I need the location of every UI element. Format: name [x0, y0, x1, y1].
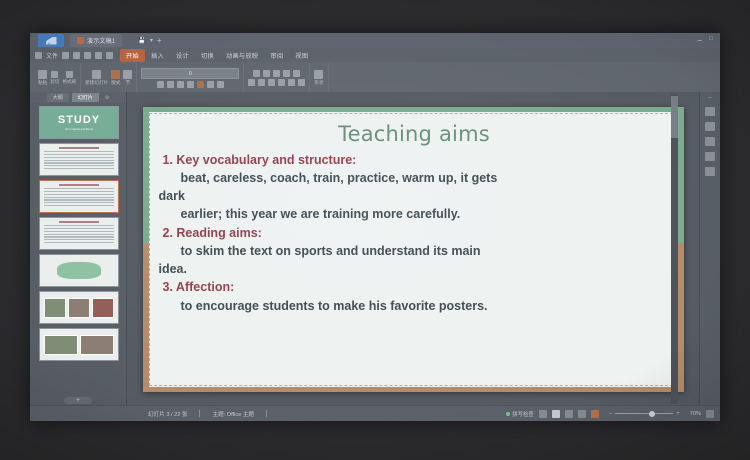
- align-right-icon[interactable]: [268, 79, 275, 86]
- restore-icon[interactable]: □: [709, 36, 713, 43]
- picture-tools-icon[interactable]: [705, 137, 715, 146]
- slide-heading-2[interactable]: 2. Reading aims:: [163, 225, 670, 242]
- strikethrough-icon[interactable]: [187, 81, 194, 88]
- add-slide-button[interactable]: +: [64, 397, 92, 404]
- presentation-file-icon: [77, 37, 84, 44]
- collapse-icon[interactable]: ─: [708, 95, 712, 101]
- redo-icon[interactable]: [106, 52, 113, 59]
- ribbon-tab-review[interactable]: 审阅: [264, 49, 289, 62]
- decrease-indent-icon[interactable]: [273, 70, 280, 77]
- new-slide-icon: [92, 70, 101, 79]
- status-right-group: 拼写检查 − + 70%: [506, 410, 714, 418]
- scrollbar-thumb[interactable]: [671, 96, 678, 138]
- slideshow-icon[interactable]: [591, 410, 599, 418]
- fit-to-window-icon[interactable]: [706, 410, 714, 418]
- reading-view-icon[interactable]: [565, 410, 573, 418]
- notes-icon[interactable]: [578, 410, 586, 418]
- document-tab-label: 演示文稿1: [87, 36, 115, 45]
- photo-thumb: [80, 335, 114, 355]
- slide-thumbnail-pane: 大纲 幻灯片 ⚙ 1 STUDY Unit 1 Sports and fitne…: [30, 92, 127, 406]
- font-color-icon[interactable]: [197, 81, 204, 88]
- section-button[interactable]: 节: [123, 70, 132, 86]
- current-slide[interactable]: Teaching aims 1. Key vocabulary and stru…: [143, 107, 684, 392]
- photo-thumb: [68, 298, 90, 318]
- ribbon-group-paragraph: [244, 63, 310, 93]
- list-item[interactable]: 6: [39, 291, 119, 324]
- wps-logo-icon[interactable]: [38, 34, 64, 47]
- status-dot-icon: [506, 412, 510, 416]
- shapes-button[interactable]: 形状: [314, 70, 323, 86]
- speech-bubble-shape: [57, 262, 101, 278]
- slide-body-2[interactable]: dark: [159, 188, 670, 205]
- ribbon-group-drawing: 形状: [310, 63, 328, 93]
- ribbon-tab-home[interactable]: 开始: [120, 49, 145, 62]
- slide-heading-1[interactable]: 1. Key vocabulary and structure:: [163, 152, 670, 169]
- ribbon-group-clipboard: 粘贴 剪切 格式刷: [34, 63, 81, 93]
- quick-access-label[interactable]: 文件: [46, 51, 58, 60]
- save-icon[interactable]: [62, 52, 69, 59]
- new-slide-button[interactable]: 新建幻灯片: [85, 70, 108, 86]
- new-tab-button[interactable]: +: [157, 36, 162, 45]
- underline-icon[interactable]: [177, 81, 184, 88]
- numbered-list-icon[interactable]: [263, 70, 270, 77]
- status-bar: 幻灯片 3 / 22 张 主题: Office 主题 拼写检查 −: [30, 405, 720, 421]
- slide-content: Teaching aims 1. Key vocabulary and stru…: [159, 117, 670, 382]
- slide-body-6[interactable]: to encourage students to make his favori…: [159, 298, 670, 315]
- ribbon-tab-bar: 文件 开始 插入 设计 切换 动画与放映 审阅 视图: [30, 48, 720, 62]
- tab-slides[interactable]: 幻灯片: [72, 93, 99, 102]
- list-item[interactable]: 3: [39, 180, 119, 213]
- minimize-icon[interactable]: ⚊: [697, 36, 702, 43]
- ribbon-tab-animations[interactable]: 动画与放映: [220, 49, 264, 62]
- format-painter-button[interactable]: 格式刷: [62, 71, 76, 85]
- slide-counter: 幻灯片 3 / 22 张: [148, 410, 187, 418]
- list-item[interactable]: 5: [39, 254, 119, 287]
- projected-screen-photo: 演示文稿1 💾 ▾ + ⚊ □ 文件 开始: [0, 0, 750, 460]
- photo-thumb: [44, 298, 66, 318]
- font-size-value: 0: [189, 71, 192, 77]
- layout-icon: [111, 70, 120, 79]
- paragraph-row-top: [253, 70, 300, 77]
- text-direction-icon[interactable]: [298, 79, 305, 86]
- quick-access-toolbar: 文件: [35, 51, 113, 60]
- spellcheck-label: 拼写检查: [512, 410, 534, 418]
- chart-tools-icon[interactable]: [705, 122, 715, 131]
- zoom-track[interactable]: [615, 413, 673, 414]
- work-area: 大纲 幻灯片 ⚙ 1 STUDY Unit 1 Sports and fitne…: [30, 92, 720, 406]
- theme-label[interactable]: 主题: Office 主题: [212, 410, 254, 418]
- ribbon-tab-insert[interactable]: 插入: [145, 49, 170, 62]
- normal-view-icon[interactable]: [539, 410, 547, 418]
- file-icon[interactable]: [35, 52, 42, 59]
- thumb-title: STUDY: [58, 115, 100, 126]
- paste-icon: [38, 70, 47, 79]
- justify-icon[interactable]: [278, 79, 285, 86]
- italic-icon[interactable]: [167, 81, 174, 88]
- thumbnail-list: 1 STUDY Unit 1 Sports and fitness 2 3 4: [30, 103, 126, 395]
- photo-thumb: [44, 335, 78, 355]
- save-icon[interactable]: 💾: [138, 37, 145, 44]
- window-controls: ⚊ □: [697, 36, 713, 43]
- thumb-subtitle: Unit 1 Sports and fitness: [65, 128, 93, 131]
- list-item[interactable]: 2: [39, 143, 119, 176]
- zoom-slider[interactable]: − +: [606, 411, 683, 417]
- align-center-icon[interactable]: [258, 79, 265, 86]
- undo-icon[interactable]: [95, 52, 102, 59]
- bold-icon[interactable]: [157, 81, 164, 88]
- slide-sorter-icon[interactable]: [552, 410, 560, 418]
- list-item[interactable]: 4: [39, 217, 119, 250]
- slide-body-1[interactable]: beat, careless, coach, train, practice, …: [159, 170, 670, 187]
- zoom-out-button[interactable]: −: [606, 411, 616, 417]
- ribbon-group-slides: 新建幻灯片 版式 节: [81, 63, 137, 93]
- line-spacing-icon[interactable]: [293, 70, 300, 77]
- cloud-icon[interactable]: [705, 167, 715, 176]
- print-preview-icon[interactable]: [84, 52, 91, 59]
- paragraph-row-bottom: [248, 79, 305, 86]
- shape-tools-icon[interactable]: [705, 107, 715, 116]
- clear-format-icon[interactable]: [217, 81, 224, 88]
- zoom-in-button[interactable]: +: [673, 411, 683, 417]
- slide-canvas[interactable]: Teaching aims 1. Key vocabulary and stru…: [127, 92, 699, 406]
- wps-presentation-window: 演示文稿1 💾 ▾ + ⚊ □ 文件 开始: [30, 33, 720, 421]
- format-painter-icon: [66, 71, 73, 78]
- slide-heading-3[interactable]: 3. Affection:: [163, 279, 670, 296]
- align-left-icon[interactable]: [248, 79, 255, 86]
- zoom-level[interactable]: 70%: [690, 411, 701, 417]
- paste-button[interactable]: 粘贴: [38, 70, 47, 86]
- ribbon-tab-view[interactable]: 视图: [289, 49, 314, 62]
- status-badge[interactable]: 拼写检查: [506, 410, 534, 418]
- ribbon-group-font: 0: [137, 63, 244, 93]
- font-format-row: [157, 81, 224, 88]
- right-side-toolbar: ─: [699, 92, 720, 406]
- bullet-list-icon[interactable]: [253, 70, 260, 77]
- scissors-icon: [51, 71, 58, 78]
- section-icon: [123, 70, 132, 79]
- increase-indent-icon[interactable]: [283, 70, 290, 77]
- tab-outline[interactable]: 大纲: [47, 93, 69, 102]
- font-size-input[interactable]: 0: [141, 68, 239, 79]
- cut-button[interactable]: 剪切: [50, 71, 59, 85]
- photo-thumb: [92, 298, 114, 318]
- list-item[interactable]: 1 STUDY Unit 1 Sports and fitness: [39, 106, 119, 139]
- shapes-icon: [314, 70, 323, 79]
- zoom-knob[interactable]: [649, 411, 655, 417]
- slide-body-4[interactable]: to skim the text on sports and understan…: [159, 243, 670, 260]
- ribbon-toolbar: 粘贴 剪切 格式刷 新建幻灯片 版式: [30, 62, 720, 95]
- canvas-scrollbar[interactable]: [671, 94, 678, 404]
- ribbon-tab-design[interactable]: 设计: [170, 49, 195, 62]
- layout-button[interactable]: 版式: [111, 70, 120, 86]
- ribbon-tab-transitions[interactable]: 切换: [195, 49, 220, 62]
- slide-body-3[interactable]: earlier; this year we are training more …: [159, 206, 670, 223]
- gear-icon[interactable]: ⚙: [105, 95, 109, 101]
- superscript-icon[interactable]: [207, 81, 214, 88]
- titlebar-tools: 💾 ▾: [138, 37, 153, 44]
- print-icon[interactable]: [73, 52, 80, 59]
- columns-icon[interactable]: [288, 79, 295, 86]
- text-tools-icon[interactable]: [705, 152, 715, 161]
- title-bar: 演示文稿1 💾 ▾ + ⚊ □: [30, 33, 720, 48]
- document-tab[interactable]: 演示文稿1: [70, 34, 122, 47]
- pane-tab-bar: 大纲 幻灯片 ⚙: [30, 92, 126, 103]
- slide-body-5[interactable]: idea.: [159, 261, 670, 278]
- list-item[interactable]: 7: [39, 328, 119, 361]
- slide-title[interactable]: Teaching aims: [159, 122, 670, 146]
- dropdown-icon[interactable]: ▾: [150, 37, 153, 44]
